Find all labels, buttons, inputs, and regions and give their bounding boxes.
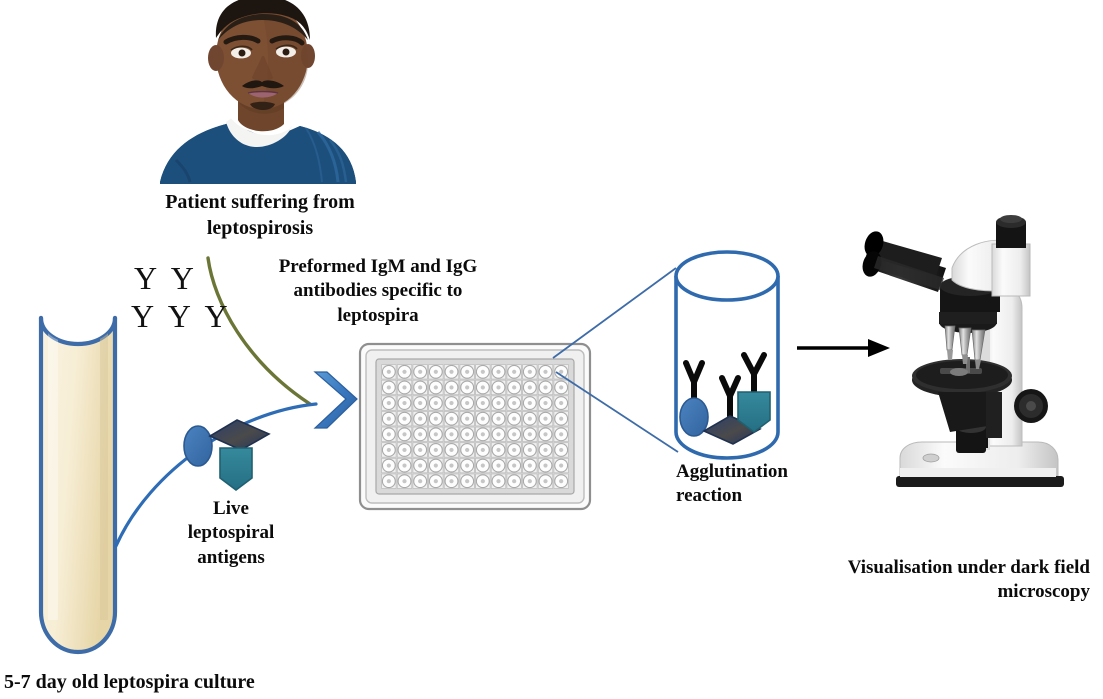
plate-well-cell[interactable] bbox=[382, 443, 396, 457]
plate-well-cell[interactable] bbox=[413, 474, 427, 488]
plate-well-cell[interactable] bbox=[429, 396, 443, 410]
plate-well[interactable] bbox=[555, 365, 568, 378]
plate-well[interactable] bbox=[539, 428, 552, 441]
antibody-symbols-row-1: Y Y bbox=[134, 262, 198, 295]
plate-well-center bbox=[559, 432, 563, 436]
plate-well[interactable] bbox=[476, 475, 489, 488]
complex-ellipse bbox=[680, 363, 708, 436]
plate-well-center bbox=[543, 385, 547, 389]
plate-well-center bbox=[559, 463, 563, 467]
plate-well[interactable] bbox=[429, 397, 442, 410]
plate-well[interactable] bbox=[508, 444, 521, 457]
antibody-symbols-row-2: Y Y Y bbox=[131, 300, 232, 333]
plate-well[interactable] bbox=[508, 365, 521, 378]
plate-well[interactable] bbox=[382, 428, 395, 441]
plate-well-cell[interactable] bbox=[397, 411, 411, 425]
plate-well[interactable] bbox=[398, 444, 411, 457]
plate-well-center bbox=[449, 448, 453, 452]
plate-well-cell[interactable] bbox=[507, 380, 521, 394]
plate-well[interactable] bbox=[508, 475, 521, 488]
plate-well-cell[interactable] bbox=[507, 427, 521, 441]
plate-well-cell[interactable] bbox=[460, 396, 474, 410]
plate-well-center bbox=[449, 370, 453, 374]
plate-well[interactable] bbox=[382, 397, 395, 410]
plate-well-cell[interactable] bbox=[397, 474, 411, 488]
plate-well-cell[interactable] bbox=[554, 380, 568, 394]
plate-well[interactable] bbox=[461, 444, 474, 457]
plate-well-cell[interactable] bbox=[382, 396, 396, 410]
plate-well-cell[interactable] bbox=[397, 380, 411, 394]
plate-well-cell[interactable] bbox=[413, 443, 427, 457]
plate-well[interactable] bbox=[414, 397, 427, 410]
plate-well-cell[interactable] bbox=[554, 474, 568, 488]
plate-well-cell[interactable] bbox=[429, 365, 443, 379]
plate-well[interactable] bbox=[398, 459, 411, 472]
plate-well-center bbox=[528, 401, 532, 405]
plate-well-center bbox=[543, 432, 547, 436]
plate-well-cell[interactable] bbox=[523, 427, 537, 441]
plate-well[interactable] bbox=[414, 381, 427, 394]
plate-well-center bbox=[402, 432, 406, 436]
plate-well[interactable] bbox=[398, 475, 411, 488]
plate-well-center bbox=[465, 370, 469, 374]
plate-well-cell[interactable] bbox=[397, 443, 411, 457]
plate-well-cell[interactable] bbox=[460, 474, 474, 488]
plate-well[interactable] bbox=[508, 459, 521, 472]
plate-well-cell[interactable] bbox=[523, 458, 537, 472]
plate-well-center bbox=[512, 448, 516, 452]
plate-well-cell[interactable] bbox=[413, 365, 427, 379]
agglutination-complexes bbox=[680, 355, 770, 444]
plate-well-center bbox=[418, 417, 422, 421]
plate-well-center bbox=[496, 385, 500, 389]
plate-well[interactable] bbox=[398, 428, 411, 441]
plate-well-cell[interactable] bbox=[476, 427, 490, 441]
plate-well[interactable] bbox=[523, 444, 536, 457]
plate-well-cell[interactable] bbox=[413, 427, 427, 441]
plate-well-center bbox=[481, 448, 485, 452]
plate-well-center bbox=[434, 385, 438, 389]
plate-well[interactable] bbox=[398, 397, 411, 410]
plate-well[interactable] bbox=[492, 475, 505, 488]
plate-well-cell[interactable] bbox=[429, 380, 443, 394]
plate-well[interactable] bbox=[492, 412, 505, 425]
plate-well-center bbox=[496, 370, 500, 374]
plate-well-cell[interactable] bbox=[476, 443, 490, 457]
plate-well[interactable] bbox=[555, 475, 568, 488]
plate-well-cell[interactable] bbox=[476, 365, 490, 379]
plate-well[interactable] bbox=[429, 365, 442, 378]
plate-well-center bbox=[512, 417, 516, 421]
plate-well-center bbox=[559, 385, 563, 389]
plate-well[interactable] bbox=[445, 412, 458, 425]
plate-well[interactable] bbox=[445, 428, 458, 441]
plate-well[interactable] bbox=[476, 412, 489, 425]
plate-well[interactable] bbox=[539, 475, 552, 488]
plate-well-center bbox=[449, 401, 453, 405]
plate-well-center bbox=[434, 448, 438, 452]
plate-well[interactable] bbox=[461, 428, 474, 441]
plate-well[interactable] bbox=[492, 381, 505, 394]
plate-well-center bbox=[543, 370, 547, 374]
plate-well-center bbox=[465, 479, 469, 483]
plate-well-center bbox=[418, 448, 422, 452]
plate-well[interactable] bbox=[382, 444, 395, 457]
plate-well[interactable] bbox=[429, 459, 442, 472]
plate-well-cell[interactable] bbox=[397, 396, 411, 410]
plate-well-center bbox=[387, 463, 391, 467]
plate-well-cell[interactable] bbox=[538, 443, 552, 457]
plate-well[interactable] bbox=[539, 444, 552, 457]
plate-well-cell[interactable] bbox=[382, 411, 396, 425]
plate-well-center bbox=[434, 417, 438, 421]
plate-well[interactable] bbox=[555, 397, 568, 410]
plate-well[interactable] bbox=[461, 459, 474, 472]
plate-well-cell[interactable] bbox=[429, 474, 443, 488]
magnification-callout-lines bbox=[553, 268, 678, 452]
plate-well-center bbox=[559, 370, 563, 374]
plate-well-center bbox=[402, 479, 406, 483]
microscope-illustration bbox=[859, 215, 1064, 487]
agglutination-cylinder bbox=[676, 252, 778, 466]
plate-well[interactable] bbox=[414, 365, 427, 378]
plate-well-center bbox=[543, 463, 547, 467]
plate-well-center bbox=[465, 385, 469, 389]
plate-well[interactable] bbox=[476, 397, 489, 410]
plate-well-center bbox=[465, 463, 469, 467]
plate-well-cell[interactable] bbox=[554, 396, 568, 410]
plate-well-cell[interactable] bbox=[429, 411, 443, 425]
plate-well-center bbox=[418, 370, 422, 374]
plate-well-cell[interactable] bbox=[413, 396, 427, 410]
label-microscopy: Visualisation under dark field microscop… bbox=[790, 556, 1090, 605]
plate-well-center bbox=[496, 401, 500, 405]
plate-well-cell[interactable] bbox=[413, 411, 427, 425]
plate-well-cell[interactable] bbox=[507, 411, 521, 425]
plate-well[interactable] bbox=[539, 381, 552, 394]
plate-well-center bbox=[418, 463, 422, 467]
plate-well-cell[interactable] bbox=[397, 427, 411, 441]
patient-illustration bbox=[160, 0, 356, 184]
plate-well[interactable] bbox=[492, 444, 505, 457]
plate-well-cell[interactable] bbox=[491, 365, 505, 379]
plate-well-center bbox=[481, 463, 485, 467]
plate-well-cell[interactable] bbox=[523, 396, 537, 410]
plate-well-center bbox=[449, 463, 453, 467]
plate-well-cell[interactable] bbox=[507, 474, 521, 488]
plate-well-cell[interactable] bbox=[476, 396, 490, 410]
plate-well[interactable] bbox=[508, 397, 521, 410]
plate-well-center bbox=[387, 448, 391, 452]
plate-well-cell[interactable] bbox=[476, 380, 490, 394]
plate-well-cell[interactable] bbox=[507, 443, 521, 457]
plate-well-cell[interactable] bbox=[554, 458, 568, 472]
plate-well[interactable] bbox=[523, 365, 536, 378]
plate-well-cell[interactable] bbox=[444, 427, 458, 441]
plate-well-center bbox=[481, 417, 485, 421]
plate-well-cell[interactable] bbox=[397, 458, 411, 472]
plate-well-cell[interactable] bbox=[554, 427, 568, 441]
plate-well[interactable] bbox=[414, 459, 427, 472]
plate-well[interactable] bbox=[508, 428, 521, 441]
plate-well-cell[interactable] bbox=[523, 365, 537, 379]
plate-well-cell[interactable] bbox=[554, 365, 568, 379]
plate-well[interactable] bbox=[398, 365, 411, 378]
plate-well-center bbox=[512, 479, 516, 483]
plate-well-cell[interactable] bbox=[429, 427, 443, 441]
plate-well-center bbox=[465, 432, 469, 436]
plate-well-cell[interactable] bbox=[554, 411, 568, 425]
plate-well-cell[interactable] bbox=[397, 365, 411, 379]
label-live-antigens: Live leptospiral antigens bbox=[166, 497, 296, 570]
plate-well[interactable] bbox=[523, 412, 536, 425]
antigen-ellipse bbox=[184, 426, 212, 466]
plate-well-center bbox=[449, 432, 453, 436]
plate-well-cell[interactable] bbox=[460, 365, 474, 379]
plate-well-center bbox=[528, 479, 532, 483]
plate-well-cell[interactable] bbox=[538, 396, 552, 410]
plate-well[interactable] bbox=[461, 412, 474, 425]
plate-well-center bbox=[418, 401, 422, 405]
plate-well[interactable] bbox=[476, 365, 489, 378]
plate-well[interactable] bbox=[445, 365, 458, 378]
plate-well-center bbox=[496, 479, 500, 483]
plate-well-cell[interactable] bbox=[491, 396, 505, 410]
blue-arrow bbox=[315, 372, 357, 428]
plate-well-cell[interactable] bbox=[538, 365, 552, 379]
plate-well[interactable] bbox=[492, 428, 505, 441]
plate-well-center bbox=[465, 448, 469, 452]
figure-canvas: Patient suffering from leptospirosis Pre… bbox=[0, 0, 1103, 699]
label-patient: Patient suffering from leptospirosis bbox=[160, 190, 360, 241]
plate-well-center bbox=[434, 401, 438, 405]
plate-well-center bbox=[449, 417, 453, 421]
plate-well-cell[interactable] bbox=[429, 443, 443, 457]
plate-well[interactable] bbox=[539, 397, 552, 410]
label-antibodies: Preformed IgM and IgG antibodies specifi… bbox=[272, 255, 484, 328]
plate-well-cell[interactable] bbox=[382, 427, 396, 441]
plate-well-cell[interactable] bbox=[538, 474, 552, 488]
plate-well[interactable] bbox=[429, 428, 442, 441]
plate-well[interactable] bbox=[523, 381, 536, 394]
plate-well-center bbox=[528, 448, 532, 452]
plate-well-center bbox=[449, 385, 453, 389]
plate-well-center bbox=[465, 401, 469, 405]
plate-well[interactable] bbox=[414, 444, 427, 457]
plate-well-center bbox=[434, 463, 438, 467]
plate-well-center bbox=[418, 432, 422, 436]
plate-well[interactable] bbox=[445, 397, 458, 410]
plate-well-center bbox=[543, 479, 547, 483]
plate-well-center bbox=[402, 370, 406, 374]
plate-well-center bbox=[387, 432, 391, 436]
plate-well-cell[interactable] bbox=[382, 380, 396, 394]
plate-well[interactable] bbox=[508, 412, 521, 425]
plate-well[interactable] bbox=[492, 459, 505, 472]
plate-well-cell[interactable] bbox=[444, 396, 458, 410]
plate-well-center bbox=[559, 417, 563, 421]
plate-well-cell[interactable] bbox=[460, 411, 474, 425]
plate-well[interactable] bbox=[555, 381, 568, 394]
plate-well-center bbox=[387, 401, 391, 405]
plate-well-center bbox=[496, 448, 500, 452]
plate-well[interactable] bbox=[492, 365, 505, 378]
plate-well-center bbox=[496, 417, 500, 421]
plate-well-center bbox=[481, 385, 485, 389]
plate-well-center bbox=[402, 448, 406, 452]
plate-well-cell[interactable] bbox=[538, 458, 552, 472]
plate-well-cell[interactable] bbox=[382, 365, 396, 379]
plate-well-center bbox=[543, 401, 547, 405]
plate-well[interactable] bbox=[461, 381, 474, 394]
plate-well-center bbox=[481, 432, 485, 436]
plate-well-cell[interactable] bbox=[491, 458, 505, 472]
plate-well-cell[interactable] bbox=[523, 443, 537, 457]
complex-pentagon bbox=[738, 355, 770, 432]
plate-well-center bbox=[387, 370, 391, 374]
plate-well-center bbox=[434, 479, 438, 483]
plate-well-center bbox=[559, 479, 563, 483]
plate-well-center bbox=[528, 432, 532, 436]
plate-well-center bbox=[434, 432, 438, 436]
plate-well[interactable] bbox=[382, 475, 395, 488]
plate-well[interactable] bbox=[555, 459, 568, 472]
plate-well[interactable] bbox=[555, 412, 568, 425]
plate-well[interactable] bbox=[445, 459, 458, 472]
plate-well-cell[interactable] bbox=[460, 443, 474, 457]
plate-well-cell[interactable] bbox=[491, 427, 505, 441]
plate-well-cell[interactable] bbox=[523, 411, 537, 425]
label-culture: 5-7 day old leptospira culture bbox=[4, 670, 344, 696]
plate-well-cell[interactable] bbox=[491, 380, 505, 394]
plate-well[interactable] bbox=[398, 412, 411, 425]
plate-well-center bbox=[402, 463, 406, 467]
plate-well-cell[interactable] bbox=[491, 443, 505, 457]
plate-well[interactable] bbox=[429, 475, 442, 488]
plate-well-cell[interactable] bbox=[507, 396, 521, 410]
plate-well-center bbox=[402, 401, 406, 405]
antigen-pentagon bbox=[220, 448, 252, 490]
plate-well[interactable] bbox=[555, 444, 568, 457]
plate-well-center bbox=[449, 479, 453, 483]
plate-well[interactable] bbox=[523, 475, 536, 488]
plate-well-cell[interactable] bbox=[444, 443, 458, 457]
plate-well[interactable] bbox=[461, 475, 474, 488]
plate-well-cell[interactable] bbox=[444, 411, 458, 425]
plate-well-center bbox=[512, 463, 516, 467]
plate-well-center bbox=[418, 479, 422, 483]
plate-well-cell[interactable] bbox=[507, 458, 521, 472]
plate-well-cell[interactable] bbox=[476, 411, 490, 425]
plate-well[interactable] bbox=[555, 428, 568, 441]
plate-well-cell[interactable] bbox=[444, 474, 458, 488]
plate-well[interactable] bbox=[461, 365, 474, 378]
plate-well-cell[interactable] bbox=[538, 380, 552, 394]
plate-well[interactable] bbox=[429, 444, 442, 457]
plate-well-center bbox=[543, 448, 547, 452]
plate-well-cell[interactable] bbox=[523, 380, 537, 394]
plate-well-cell[interactable] bbox=[476, 458, 490, 472]
plate-well-cell[interactable] bbox=[429, 458, 443, 472]
plate-well[interactable] bbox=[414, 428, 427, 441]
antigen-diamond bbox=[210, 420, 269, 450]
plate-well[interactable] bbox=[539, 459, 552, 472]
black-arrow-to-microscope bbox=[797, 339, 890, 357]
plate-well-cell[interactable] bbox=[444, 365, 458, 379]
plate-well-cell[interactable] bbox=[491, 411, 505, 425]
plate-well-cell[interactable] bbox=[413, 458, 427, 472]
plate-well-cell[interactable] bbox=[444, 458, 458, 472]
plate-well-cell[interactable] bbox=[444, 380, 458, 394]
plate-well[interactable] bbox=[429, 381, 442, 394]
plate-well-center bbox=[481, 401, 485, 405]
plate-well[interactable] bbox=[523, 428, 536, 441]
plate-well-center bbox=[512, 432, 516, 436]
plate-well[interactable] bbox=[539, 365, 552, 378]
plate-well-center bbox=[465, 417, 469, 421]
plate-well-cell[interactable] bbox=[491, 474, 505, 488]
plate-well-cell[interactable] bbox=[554, 443, 568, 457]
plate-well[interactable] bbox=[445, 475, 458, 488]
plate-well-cell[interactable] bbox=[460, 427, 474, 441]
plate-well-cell[interactable] bbox=[460, 458, 474, 472]
plate-well-cell[interactable] bbox=[460, 380, 474, 394]
plate-well[interactable] bbox=[461, 397, 474, 410]
plate-well-cell[interactable] bbox=[382, 458, 396, 472]
plate-well[interactable] bbox=[445, 444, 458, 457]
plate-well[interactable] bbox=[476, 381, 489, 394]
plate-well[interactable] bbox=[382, 381, 395, 394]
plate-well[interactable] bbox=[382, 365, 395, 378]
plate-well-cell[interactable] bbox=[413, 380, 427, 394]
plate-well-cell[interactable] bbox=[382, 474, 396, 488]
plate-well[interactable] bbox=[414, 412, 427, 425]
plate-well[interactable] bbox=[382, 459, 395, 472]
plate-well[interactable] bbox=[476, 459, 489, 472]
plate-well-center bbox=[528, 370, 532, 374]
plate-well-center bbox=[481, 370, 485, 374]
plate-well[interactable] bbox=[539, 412, 552, 425]
plate-well-cell[interactable] bbox=[507, 365, 521, 379]
complex-diamond bbox=[704, 378, 760, 444]
plate-wells bbox=[382, 365, 569, 489]
plate-well-center bbox=[543, 417, 547, 421]
plate-well[interactable] bbox=[398, 381, 411, 394]
plate-well-center bbox=[481, 479, 485, 483]
plate-well-center bbox=[559, 448, 563, 452]
microtiter-plate[interactable] bbox=[360, 344, 590, 509]
plate-well-center bbox=[496, 432, 500, 436]
plate-well[interactable] bbox=[476, 444, 489, 457]
plate-well[interactable] bbox=[492, 397, 505, 410]
plate-well[interactable] bbox=[476, 428, 489, 441]
plate-well-cell[interactable] bbox=[523, 474, 537, 488]
plate-well[interactable] bbox=[508, 381, 521, 394]
plate-well-center bbox=[528, 417, 532, 421]
plate-well-cell[interactable] bbox=[476, 474, 490, 488]
plate-well[interactable] bbox=[523, 397, 536, 410]
plate-well[interactable] bbox=[414, 475, 427, 488]
plate-well-cell[interactable] bbox=[538, 427, 552, 441]
plate-well[interactable] bbox=[429, 412, 442, 425]
plate-well-cell[interactable] bbox=[538, 411, 552, 425]
plate-well-center bbox=[387, 417, 391, 421]
plate-well-center bbox=[512, 385, 516, 389]
plate-well[interactable] bbox=[523, 459, 536, 472]
plate-well-center bbox=[418, 385, 422, 389]
plate-well[interactable] bbox=[445, 381, 458, 394]
plate-well[interactable] bbox=[382, 412, 395, 425]
